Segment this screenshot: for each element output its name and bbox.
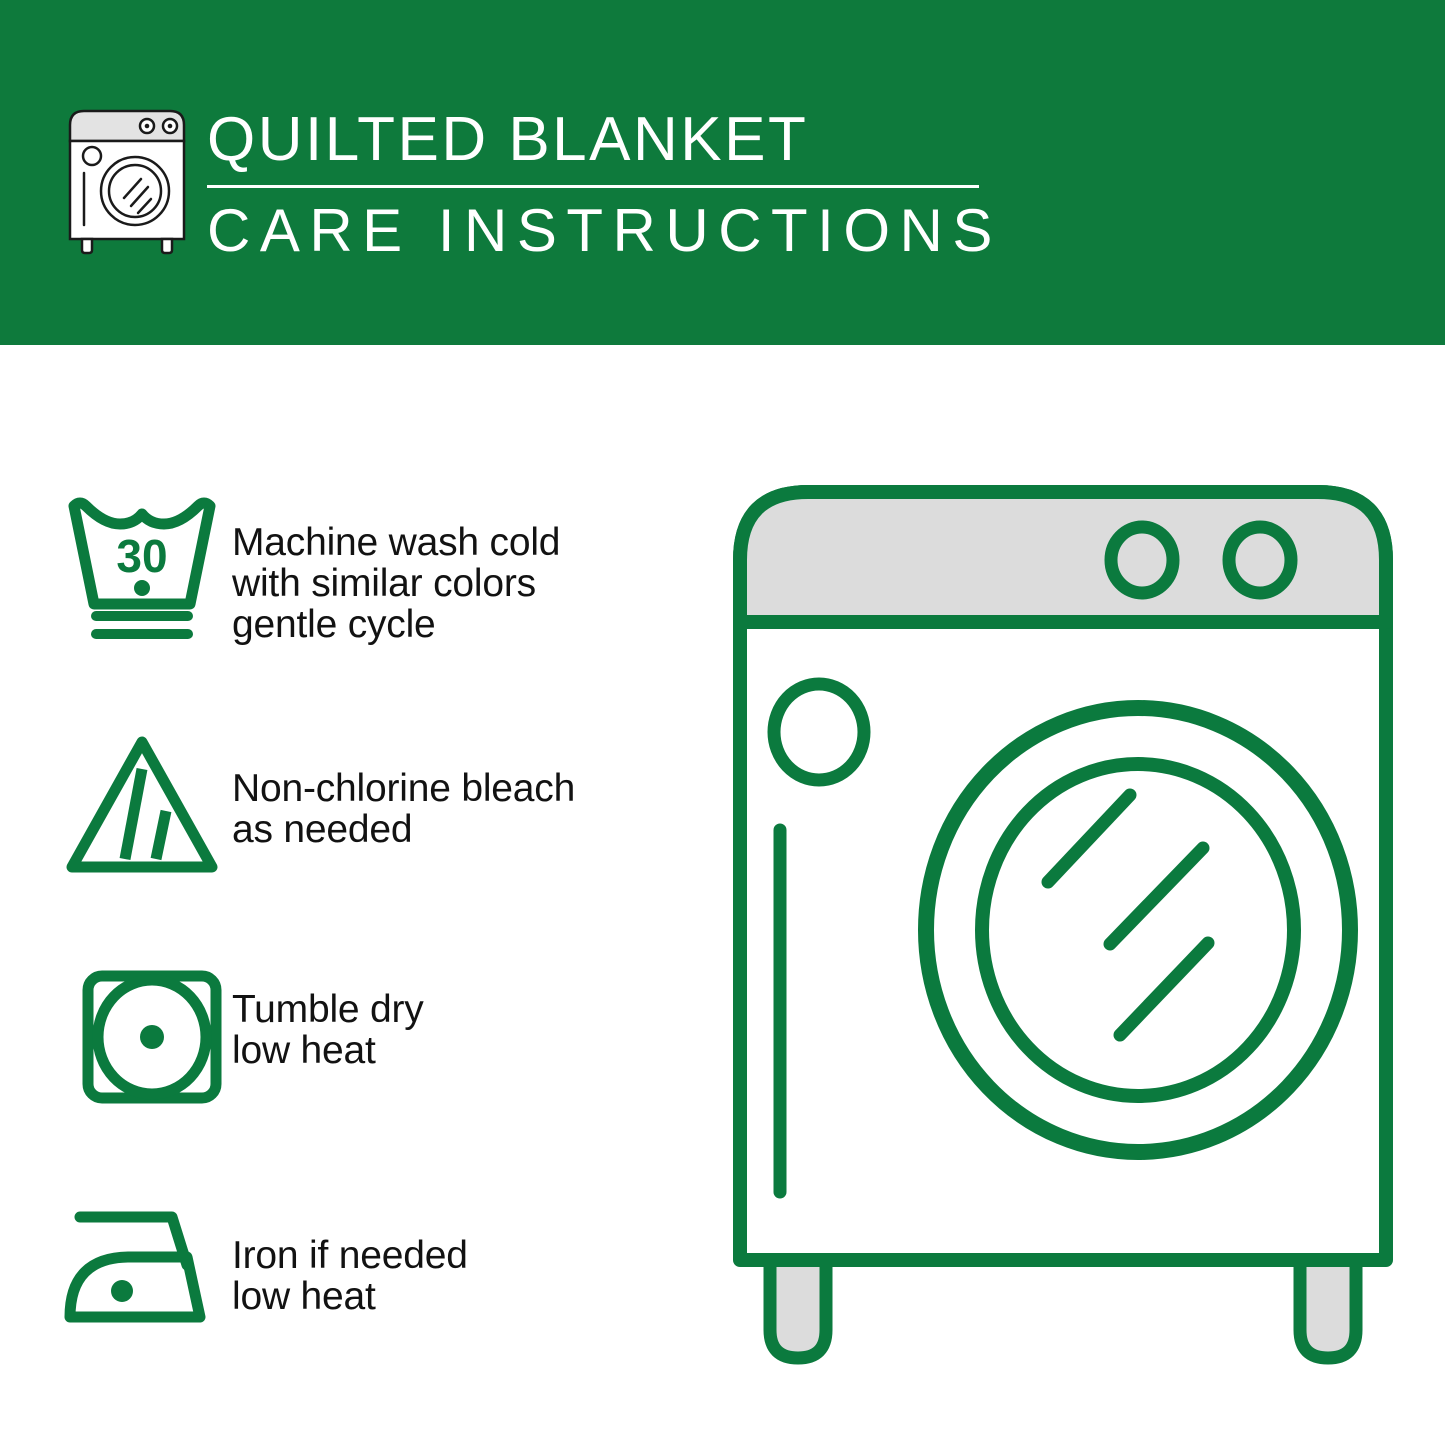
page-title: QUILTED BLANKET xyxy=(207,104,997,176)
instructions-list: 30 Machine wash cold with similar colors… xyxy=(62,492,682,1365)
instruction-row-iron: Iron if needed low heat xyxy=(62,1197,682,1365)
instruction-text-bleach: Non-chlorine bleach as needed xyxy=(232,727,682,850)
instruction-text-wash: Machine wash cold with similar colors ge… xyxy=(232,492,682,645)
care-instructions-poster: QUILTED BLANKET CARE INSTRUCTIONS 30 xyxy=(0,0,1445,1445)
wash-temperature-label: 30 xyxy=(116,530,167,582)
header-band: QUILTED BLANKET CARE INSTRUCTIONS xyxy=(0,0,1445,345)
tumble-dry-low-icon xyxy=(62,962,232,1124)
instruction-row-wash: 30 Machine wash cold with similar colors… xyxy=(62,492,682,727)
iron-low-heat-icon xyxy=(62,1197,232,1365)
title-divider xyxy=(207,185,979,188)
instruction-row-tumble-dry: Tumble dry low heat xyxy=(62,962,682,1197)
page-subtitle: CARE INSTRUCTIONS xyxy=(207,197,997,265)
instruction-text-iron: Iron if needed low heat xyxy=(232,1197,682,1317)
instruction-row-bleach: Non-chlorine bleach as needed xyxy=(62,727,682,962)
washing-machine-logo-icon xyxy=(62,103,192,255)
header-text-block: QUILTED BLANKET CARE INSTRUCTIONS xyxy=(207,104,997,265)
wash-tub-30-icon: 30 xyxy=(62,492,232,652)
washing-machine-illustration xyxy=(718,470,1408,1370)
instruction-text-tumble-dry: Tumble dry low heat xyxy=(232,962,682,1071)
non-chlorine-bleach-triangle-icon xyxy=(62,727,232,893)
